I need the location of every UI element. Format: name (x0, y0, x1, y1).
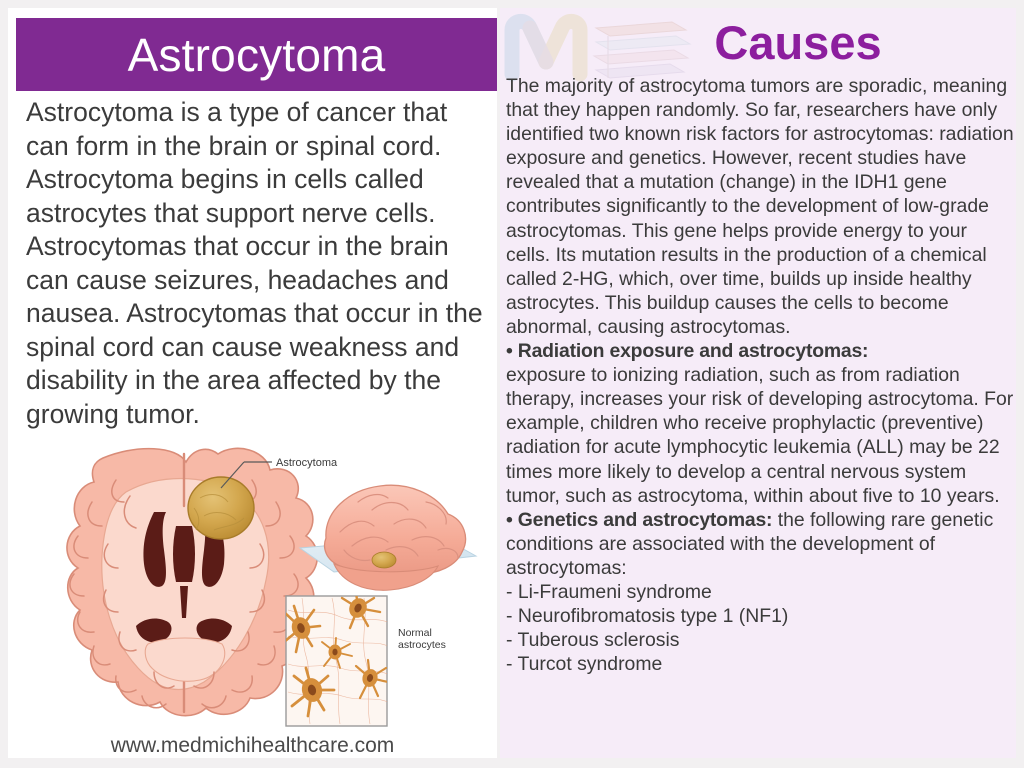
label-normal-astrocytes-line2: astrocytes (398, 639, 446, 651)
list-item: - Li-Fraumeni syndrome (506, 580, 1014, 604)
website-url: www.medmichihealthcare.com (8, 734, 497, 758)
right-panel: Causes The majority of astrocytoma tumor… (500, 8, 1016, 758)
list-item: - Neurofibromatosis type 1 (NF1) (506, 604, 1014, 628)
brain-illustration: Astrocytoma (8, 440, 497, 740)
bullet-genetics: • Genetics and astrocytomas: the followi… (506, 508, 1014, 580)
causes-content: The majority of astrocytoma tumors are s… (506, 74, 1014, 676)
astrocyte-inset: Normal astrocytes (284, 592, 446, 726)
title-banner: Astrocytoma (16, 18, 497, 91)
genetic-conditions-list: - Li-Fraumeni syndrome - Neurofibromatos… (506, 580, 1014, 676)
label-normal-astrocytes-line1: Normal (398, 627, 432, 639)
intro-paragraph: Astrocytoma is a type of cancer that can… (26, 96, 489, 431)
axial-brain-slice (67, 448, 317, 715)
causes-intro: The majority of astrocytoma tumors are s… (506, 74, 1014, 339)
causes-title: Causes (500, 14, 1016, 72)
bullet-radiation-body: exposure to ionizing radiation, such as … (506, 364, 1013, 506)
brain-3d-view (300, 485, 476, 590)
bullet-radiation-heading: • Radiation exposure and astrocytomas: (506, 340, 868, 362)
brain-figure-svg: Astrocytoma (8, 440, 497, 740)
list-item: - Turcot syndrome (506, 652, 1014, 676)
bullet-radiation: • Radiation exposure and astrocytomas: e… (506, 339, 1014, 508)
tumor-mass (188, 477, 254, 539)
label-astrocytoma: Astrocytoma (276, 457, 338, 469)
page-title: Astrocytoma (128, 32, 386, 78)
tumor-3d (372, 552, 396, 568)
list-item: - Tuberous sclerosis (506, 628, 1014, 652)
infographic-page: Astrocytoma Astrocytoma is a type of can… (0, 0, 1024, 768)
bullet-genetics-heading: • Genetics and astrocytomas: (506, 509, 772, 531)
left-panel: Astrocytoma Astrocytoma is a type of can… (8, 8, 497, 758)
